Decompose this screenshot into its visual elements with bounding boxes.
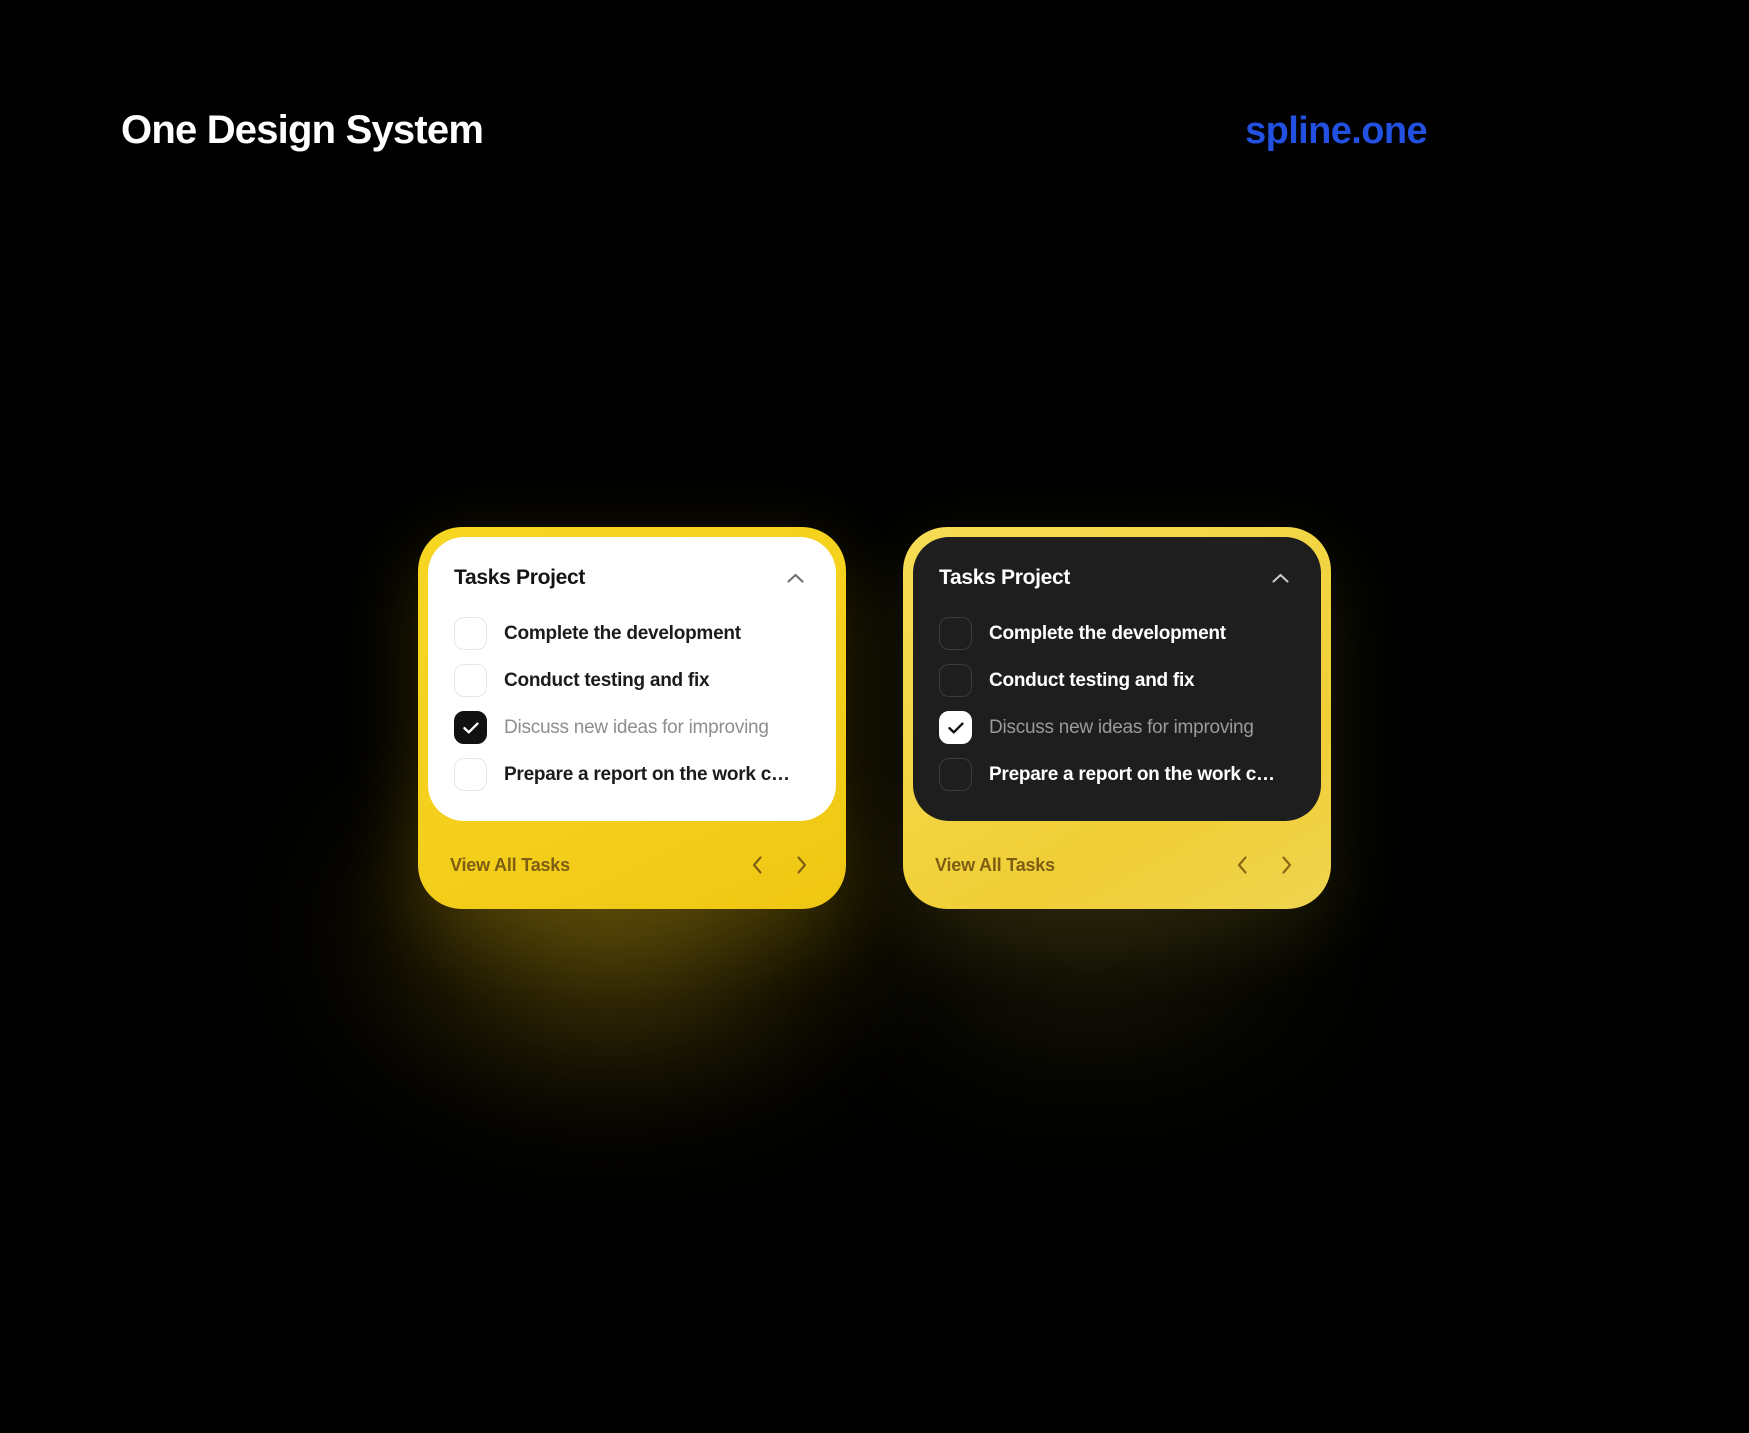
check-icon — [463, 722, 479, 734]
next-button[interactable] — [788, 852, 814, 878]
task-list: Complete the development Conduct testing… — [454, 617, 810, 791]
chevron-left-icon — [752, 856, 763, 874]
task-row[interactable]: Complete the development — [939, 617, 1295, 650]
task-label: Complete the development — [504, 623, 741, 645]
task-label: Prepare a report on the work c… — [504, 764, 790, 786]
brand-link[interactable]: spline.one — [1245, 110, 1427, 153]
card-title: Tasks Project — [939, 566, 1070, 590]
task-row[interactable]: Conduct testing and fix — [454, 664, 810, 697]
card-footer: View All Tasks — [428, 821, 836, 909]
tasks-card-light: Tasks Project Complete the development — [418, 527, 846, 909]
canvas: One Design System spline.one Tasks Proje… — [0, 0, 1749, 1433]
task-row[interactable]: Prepare a report on the work c… — [939, 758, 1295, 791]
task-row[interactable]: Discuss new ideas for improving — [939, 711, 1295, 744]
task-label: Conduct testing and fix — [989, 670, 1194, 692]
tasks-card-dark: Tasks Project Complete the development — [903, 527, 1331, 909]
prev-button[interactable] — [1229, 852, 1255, 878]
task-label: Prepare a report on the work c… — [989, 764, 1275, 786]
chevron-up-icon — [1272, 573, 1289, 583]
task-row[interactable]: Conduct testing and fix — [939, 664, 1295, 697]
task-checkbox[interactable] — [939, 758, 972, 791]
card-footer: View All Tasks — [913, 821, 1321, 909]
chevron-right-icon — [796, 856, 807, 874]
chevron-right-icon — [1281, 856, 1292, 874]
next-button[interactable] — [1273, 852, 1299, 878]
chevron-left-icon — [1237, 856, 1248, 874]
task-checkbox[interactable] — [939, 617, 972, 650]
task-row[interactable]: Discuss new ideas for improving — [454, 711, 810, 744]
tasks-panel-light: Tasks Project Complete the development — [428, 537, 836, 821]
panel-header: Tasks Project — [939, 563, 1295, 593]
page-title: One Design System — [121, 108, 483, 153]
task-list: Complete the development Conduct testing… — [939, 617, 1295, 791]
task-label: Discuss new ideas for improving — [504, 717, 769, 739]
view-all-tasks-link[interactable]: View All Tasks — [935, 855, 1055, 876]
task-checkbox[interactable] — [454, 664, 487, 697]
collapse-toggle-button[interactable] — [1265, 563, 1295, 593]
panel-header: Tasks Project — [454, 563, 810, 593]
view-all-tasks-link[interactable]: View All Tasks — [450, 855, 570, 876]
task-label: Conduct testing and fix — [504, 670, 709, 692]
collapse-toggle-button[interactable] — [780, 563, 810, 593]
task-label: Discuss new ideas for improving — [989, 717, 1254, 739]
footer-nav — [1229, 852, 1299, 878]
task-row[interactable]: Complete the development — [454, 617, 810, 650]
task-checkbox[interactable] — [454, 758, 487, 791]
task-row[interactable]: Prepare a report on the work c… — [454, 758, 810, 791]
task-checkbox[interactable] — [939, 711, 972, 744]
card-title: Tasks Project — [454, 566, 585, 590]
check-icon — [948, 722, 964, 734]
task-checkbox[interactable] — [454, 711, 487, 744]
footer-nav — [744, 852, 814, 878]
task-label: Complete the development — [989, 623, 1226, 645]
prev-button[interactable] — [744, 852, 770, 878]
task-checkbox[interactable] — [939, 664, 972, 697]
task-checkbox[interactable] — [454, 617, 487, 650]
tasks-panel-dark: Tasks Project Complete the development — [913, 537, 1321, 821]
chevron-up-icon — [787, 573, 804, 583]
